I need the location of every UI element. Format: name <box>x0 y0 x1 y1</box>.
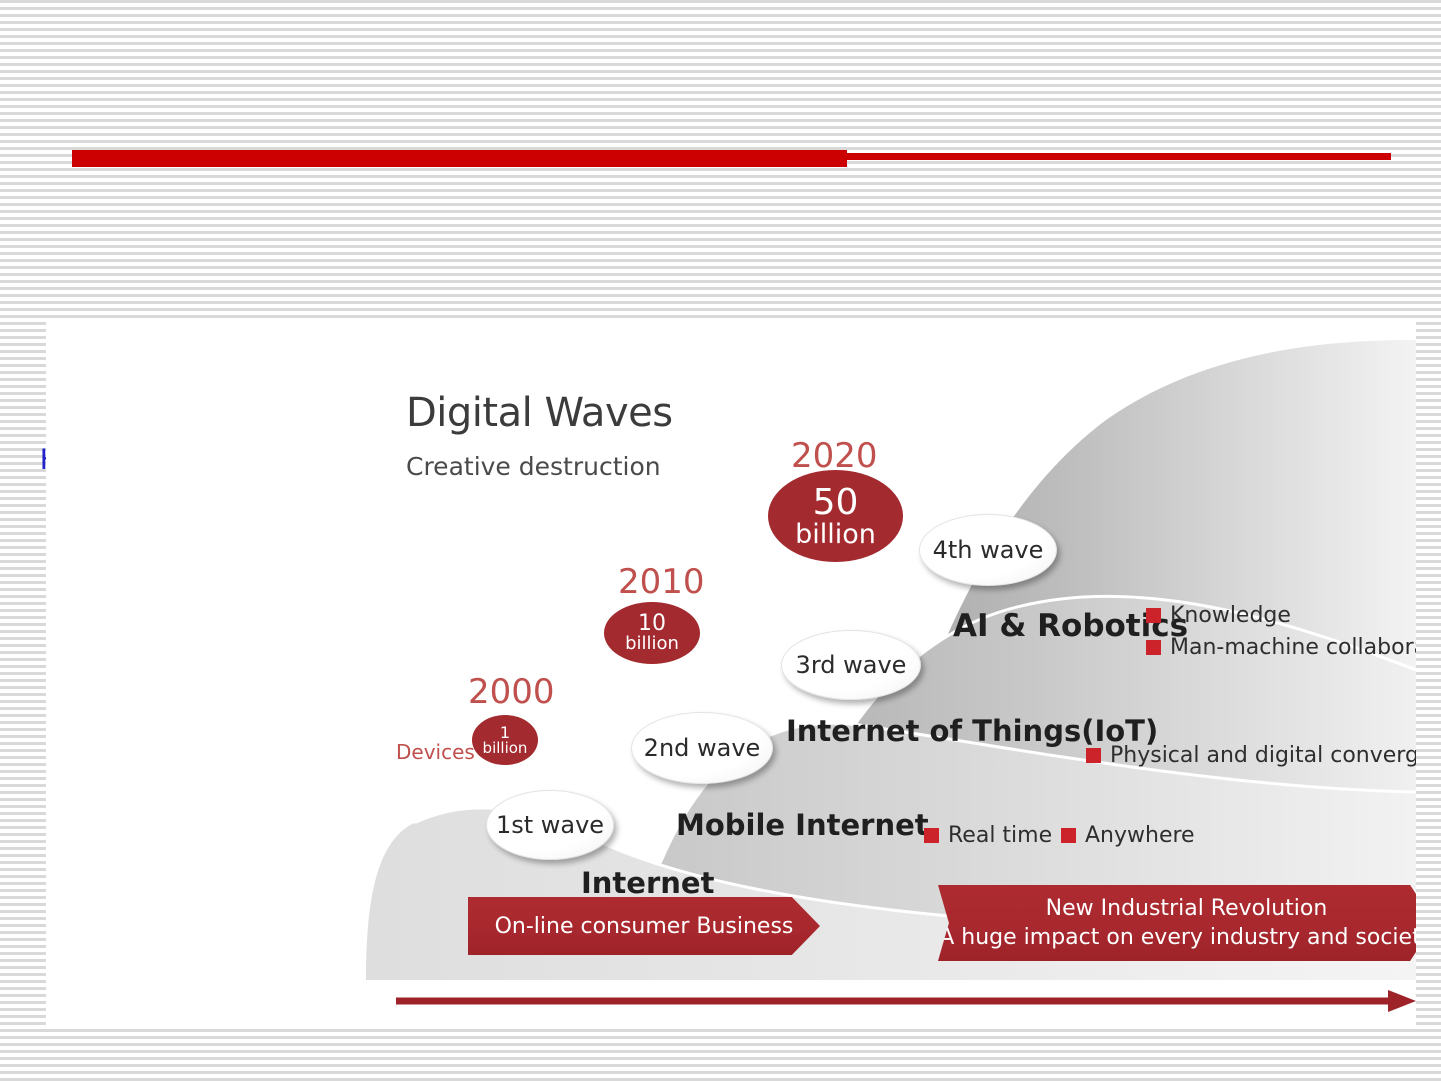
bullet-physical-digital-convergence: Physical and digital convergence <box>1086 743 1416 768</box>
bullet-label: Anywhere <box>1085 823 1195 848</box>
bullet-real-time: Real time <box>924 823 1052 848</box>
device-count-value: 10 <box>638 613 666 635</box>
device-count-value: 50 <box>813 485 859 521</box>
bullet-knowledge: Knowledge <box>1146 603 1291 628</box>
device-count-marker-2000: 1 billion <box>472 715 538 765</box>
phase-arrow-new-industrial-revolution: New Industrial Revolution A huge impact … <box>938 885 1416 961</box>
wave-bubble-3: 3rd wave <box>781 630 921 700</box>
device-count-unit: billion <box>795 521 876 548</box>
bullet-square-icon <box>1146 640 1161 655</box>
wave-bubble-label: 4th wave <box>933 536 1044 564</box>
title-accent-bar-thin <box>845 153 1391 160</box>
phase-arrow-label: On-line consumer Business <box>495 914 794 939</box>
device-count-unit: billion <box>625 635 679 653</box>
bullet-square-icon <box>924 828 939 843</box>
bullet-label: Real time <box>948 823 1052 848</box>
phase-arrow-label-line1: New Industrial Revolution <box>939 894 1416 923</box>
phase-arrow-online-consumer-business: On-line consumer Business <box>468 897 820 955</box>
chart-title: Digital Waves <box>406 390 673 436</box>
device-count-marker-2020: 50 billion <box>768 470 903 562</box>
infographic-panel: Digital Waves Creative destruction Devic… <box>46 320 1416 1026</box>
title-accent-bar-thick <box>72 150 847 167</box>
bullet-label: Physical and digital convergence <box>1110 743 1416 768</box>
bullet-label: Man-machine collaboration <box>1170 635 1416 660</box>
bullet-square-icon <box>1086 748 1101 763</box>
digital-waves-chart: Digital Waves Creative destruction Devic… <box>346 340 1416 1020</box>
wave-bubble-1: 1st wave <box>486 790 614 860</box>
wave-name-mobile-internet: Mobile Internet <box>676 808 929 842</box>
bullet-square-icon <box>1061 828 1076 843</box>
slide-canvas: How digital technology will transform th… <box>0 0 1441 1081</box>
devices-axis-label: Devices <box>396 740 475 764</box>
timeline-arrow <box>396 990 1416 1012</box>
year-label-2000: 2000 <box>468 672 555 712</box>
bullet-anywhere: Anywhere <box>1061 823 1195 848</box>
wave-bubble-label: 3rd wave <box>796 651 907 679</box>
device-count-unit: billion <box>483 741 528 756</box>
bullet-label: Knowledge <box>1170 603 1291 628</box>
phase-arrow-label-line2: A huge impact on every industry and soci… <box>939 923 1416 952</box>
bullet-square-icon <box>1146 608 1161 623</box>
chart-subtitle: Creative destruction <box>406 452 661 481</box>
bullet-man-machine-collaboration: Man-machine collaboration <box>1146 635 1416 660</box>
device-count-marker-2010: 10 billion <box>604 602 700 664</box>
wave-bubble-label: 1st wave <box>496 811 604 839</box>
wave-bubble-2: 2nd wave <box>631 712 773 784</box>
year-label-2010: 2010 <box>618 562 705 602</box>
wave-bubble-label: 2nd wave <box>644 734 761 762</box>
wave-bubble-4: 4th wave <box>919 514 1057 586</box>
wave-name-internet: Internet <box>581 866 714 900</box>
